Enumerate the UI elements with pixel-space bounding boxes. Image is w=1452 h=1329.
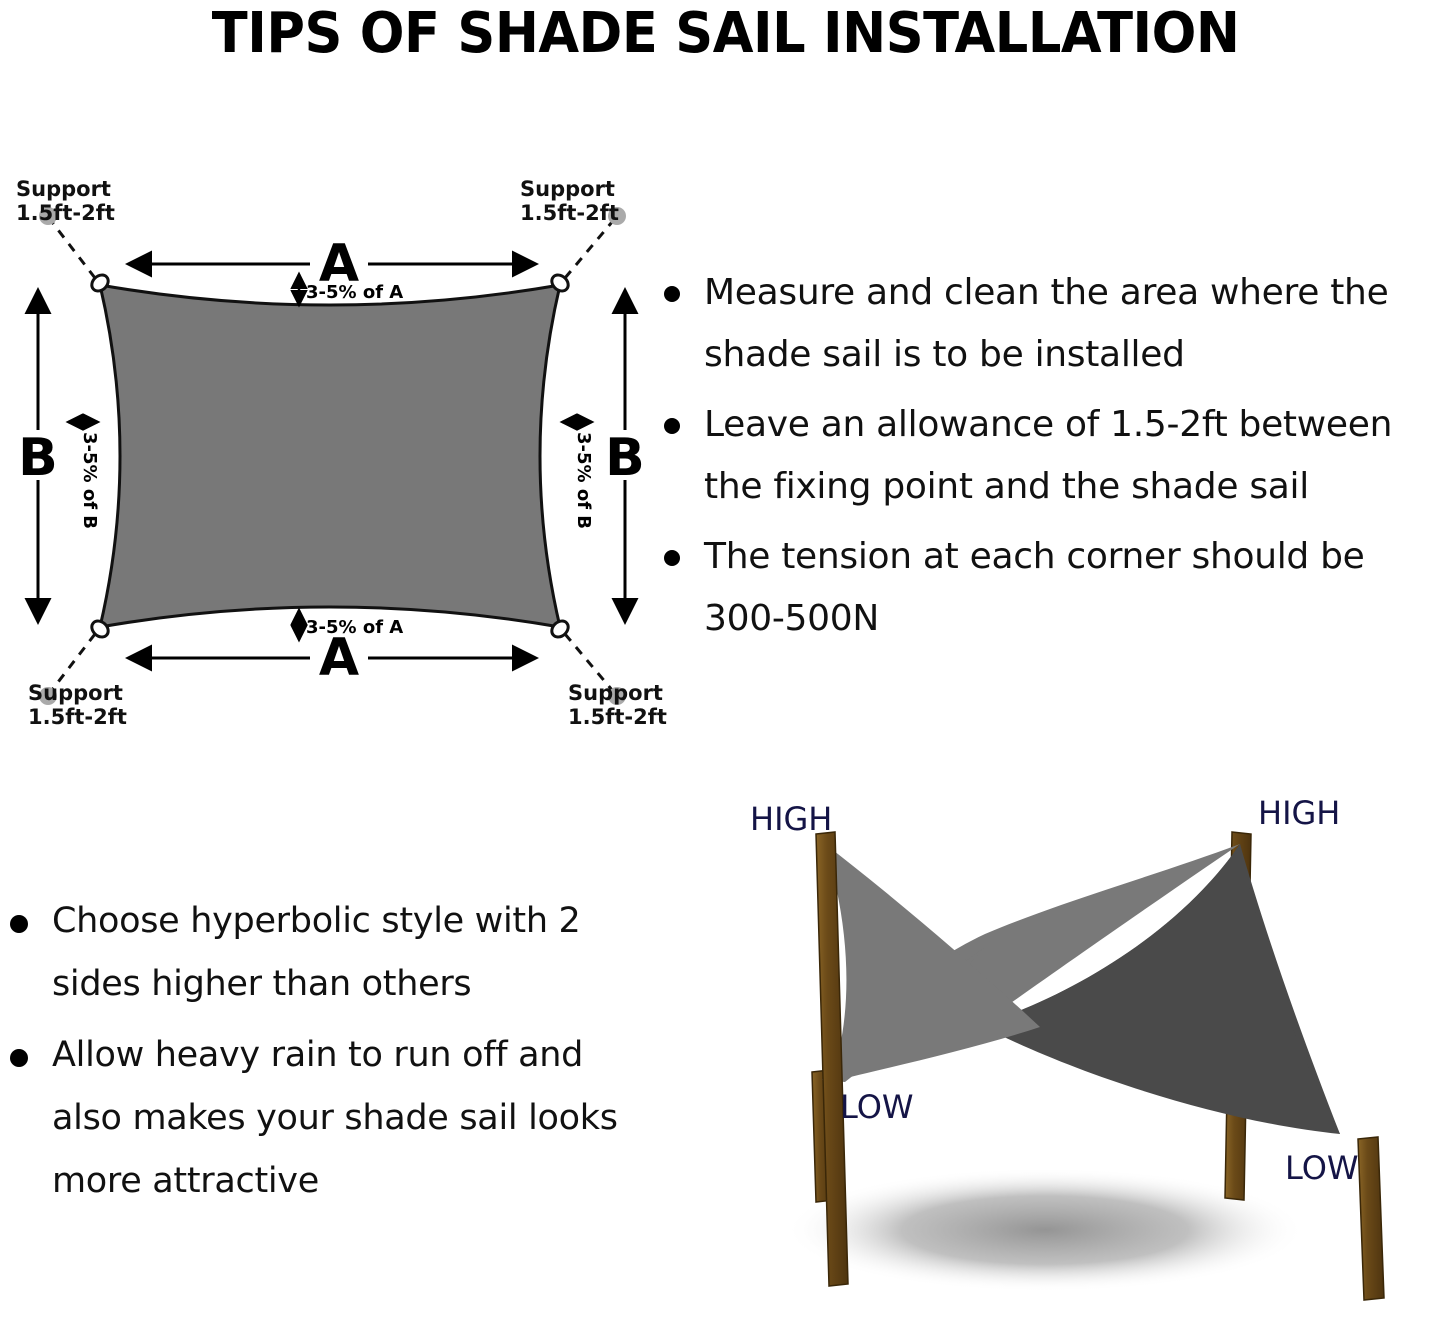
bullet-dot-icon [664,286,680,302]
rect-sail-diagram: Support 1.5ft-2ft Support 1.5ft-2ft Supp… [0,150,680,750]
support-label-top-left: Support 1.5ft-2ft [16,177,115,225]
post-low-right [1358,1137,1384,1300]
curve-callout-bottom: 3-5% of A [299,610,403,640]
bullet-dot-icon [664,418,680,434]
curve-callout-top-label: 3-5% of A [306,282,403,303]
installation-tips-panel: Measure and clean the area where the sha… [648,262,1452,662]
support-label-title: Support [16,177,111,201]
dimension-label-b-left: B [18,428,58,488]
support-label-title: Support [28,681,123,705]
list-item-text: Leave an allowance of 1.5-2ft between th… [704,404,1392,507]
curve-callout-bottom-label: 3-5% of A [306,617,403,638]
support-label-value: 1.5ft-2ft [28,705,127,729]
support-label-top-right: Support 1.5ft-2ft [520,177,619,225]
list-item-text: Measure and clean the area where the sha… [704,272,1388,375]
dimension-arrow-height-right: B [605,290,645,622]
title-bar: TIPS OF SHADE SAIL INSTALLATION [0,0,1452,68]
list-item-text: The tension at each corner should be 300… [704,536,1365,639]
list-item: The tension at each corner should be 300… [648,526,1452,650]
support-label-value: 1.5ft-2ft [568,705,667,729]
label-high-left: HIGH [750,800,832,838]
page-title: TIPS OF SHADE SAIL INSTALLATION [212,4,1240,64]
curve-callout-left: 3-5% of B [68,422,100,529]
support-label-value: 1.5ft-2ft [520,201,619,225]
list-item-text: Choose hyperbolic style with 2 sides hig… [52,901,581,1004]
support-label-title: Support [568,681,663,705]
hyperbolic-sail-diagram: HIGH HIGH LOW LOW [640,782,1452,1325]
bullet-dot-icon [10,1049,28,1067]
list-item-text: Allow heavy rain to run off and also mak… [52,1035,618,1201]
list-item: Measure and clean the area where the sha… [648,262,1452,386]
label-low-left: LOW [840,1088,914,1126]
list-item: Choose hyperbolic style with 2 sides hig… [2,890,622,1016]
list-item: Allow heavy rain to run off and also mak… [2,1024,622,1213]
dimension-arrow-height-left: B [18,290,58,622]
support-label-bottom-left: Support 1.5ft-2ft [28,681,127,729]
hyperbolic-advice-panel: Choose hyperbolic style with 2 sides hig… [2,890,622,1250]
support-label-value: 1.5ft-2ft [16,201,115,225]
label-high-right: HIGH [1258,794,1340,832]
shade-sail-shape [100,285,560,627]
dimension-label-b-right: B [605,428,645,488]
support-label-bottom-right: Support 1.5ft-2ft [568,681,667,729]
curve-callout-right-label: 3-5% of B [573,432,594,529]
installation-tips-bullet-list: Measure and clean the area where the sha… [648,262,1452,650]
curve-callout-left-label: 3-5% of B [79,432,100,529]
bullet-dot-icon [664,550,680,566]
label-low-right: LOW [1285,1149,1359,1187]
curve-callout-right: 3-5% of B [562,422,594,529]
list-item: Leave an allowance of 1.5-2ft between th… [648,394,1452,518]
support-label-title: Support [520,177,615,201]
bullet-dot-icon [10,915,28,933]
hyperbolic-advice-bullet-list: Choose hyperbolic style with 2 sides hig… [2,890,622,1213]
